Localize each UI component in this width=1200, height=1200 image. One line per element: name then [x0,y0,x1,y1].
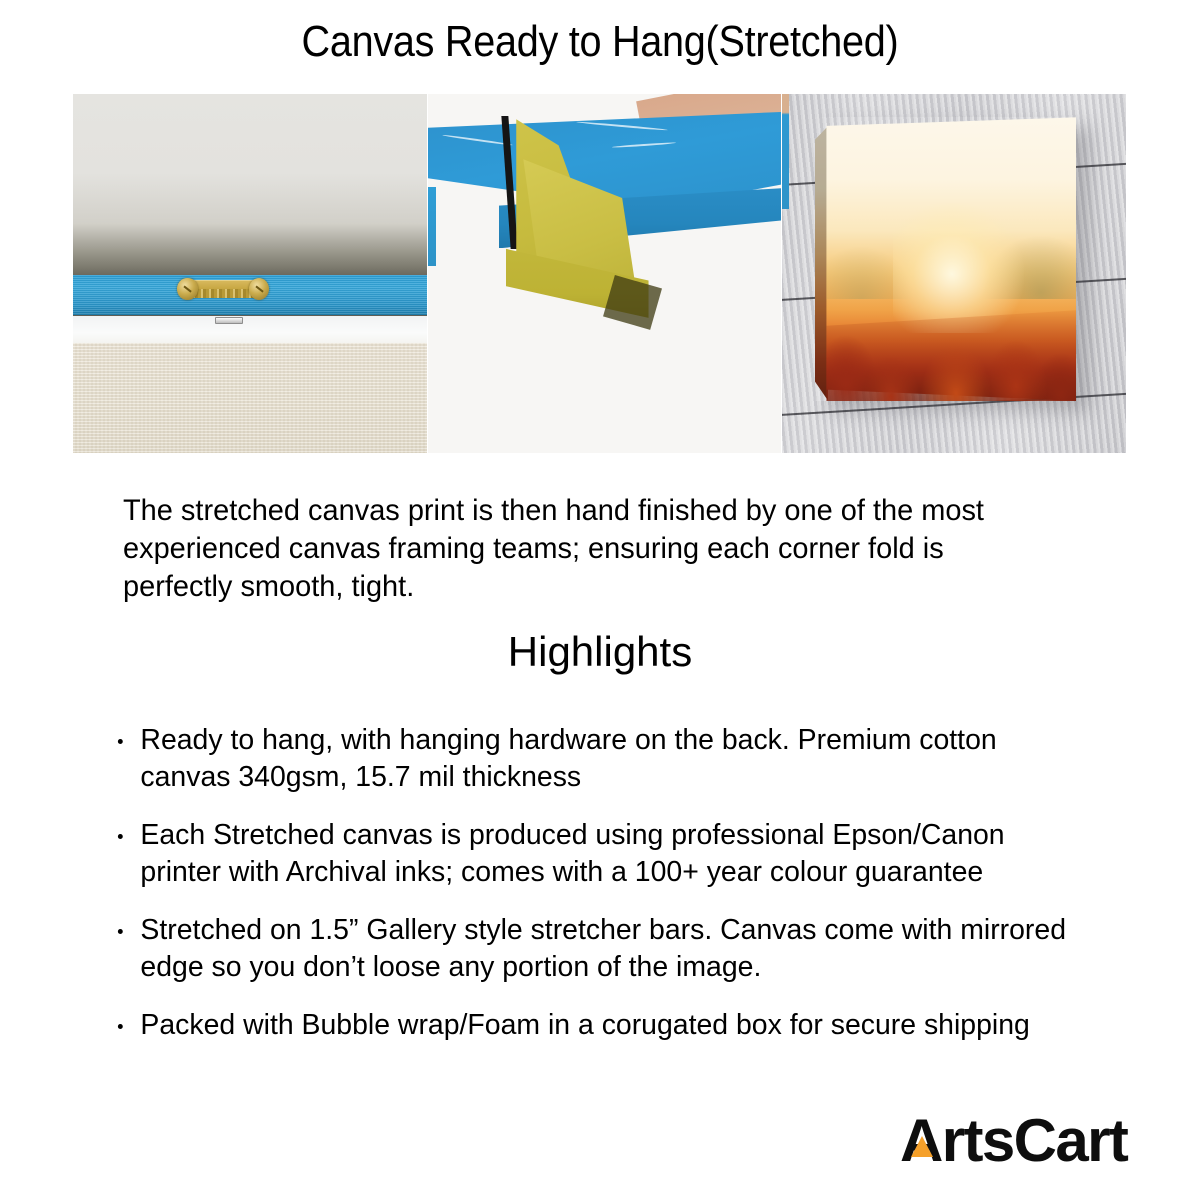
hanger-screw-right [249,278,269,300]
list-item: Ready to hang, with hanging hardware on … [112,722,1092,796]
highlights-heading: Highlights [0,627,1200,677]
print-bleed-sliver [428,187,436,266]
stretched-canvas-product [815,117,1076,401]
cotton-canvas-surface [73,343,427,453]
hanger-screw-left [177,278,197,300]
print-wisp [576,121,668,131]
sawtooth-hanger-icon [177,278,269,300]
highlights-list: Ready to hang, with hanging hardware on … [112,722,1112,1065]
print-bleed-sliver [782,94,789,209]
lead-paragraph: The stretched canvas print is then hand … [123,492,1040,606]
list-item: Packed with Bubble wrap/Foam in a coruga… [112,1007,1092,1044]
list-item: Each Stretched canvas is produced using … [112,817,1092,891]
canvas-white-band [73,316,427,345]
brand-logo: ArtsCart [900,1108,1127,1174]
list-item: Stretched on 1.5” Gallery style stretche… [112,912,1092,986]
bullet-dot-icon [118,739,123,744]
hanger-teeth [190,289,256,298]
list-item-text: Packed with Bubble wrap/Foam in a coruga… [140,1009,1029,1041]
bullet-dot-icon [118,1024,123,1029]
list-item-text: Ready to hang, with hanging hardware on … [140,724,996,793]
bullet-dot-icon [118,834,123,839]
sun-glow [893,202,1024,332]
brand-wordmark: ArtsCart [900,1108,1127,1174]
print-wisp [612,141,676,147]
wall-nail [215,317,244,325]
corner-fold-photo [428,94,781,453]
list-item-text: Stretched on 1.5” Gallery style stretche… [140,914,1066,983]
list-item-text: Each Stretched canvas is produced using … [140,819,1004,888]
product-photo-gallery [73,94,1128,453]
bullet-dot-icon [118,929,123,934]
canvas-back-hanger-photo [73,94,427,453]
hanging-canvas-photo [782,94,1126,453]
page-title: Canvas Ready to Hang(Stretched) [60,16,1140,68]
